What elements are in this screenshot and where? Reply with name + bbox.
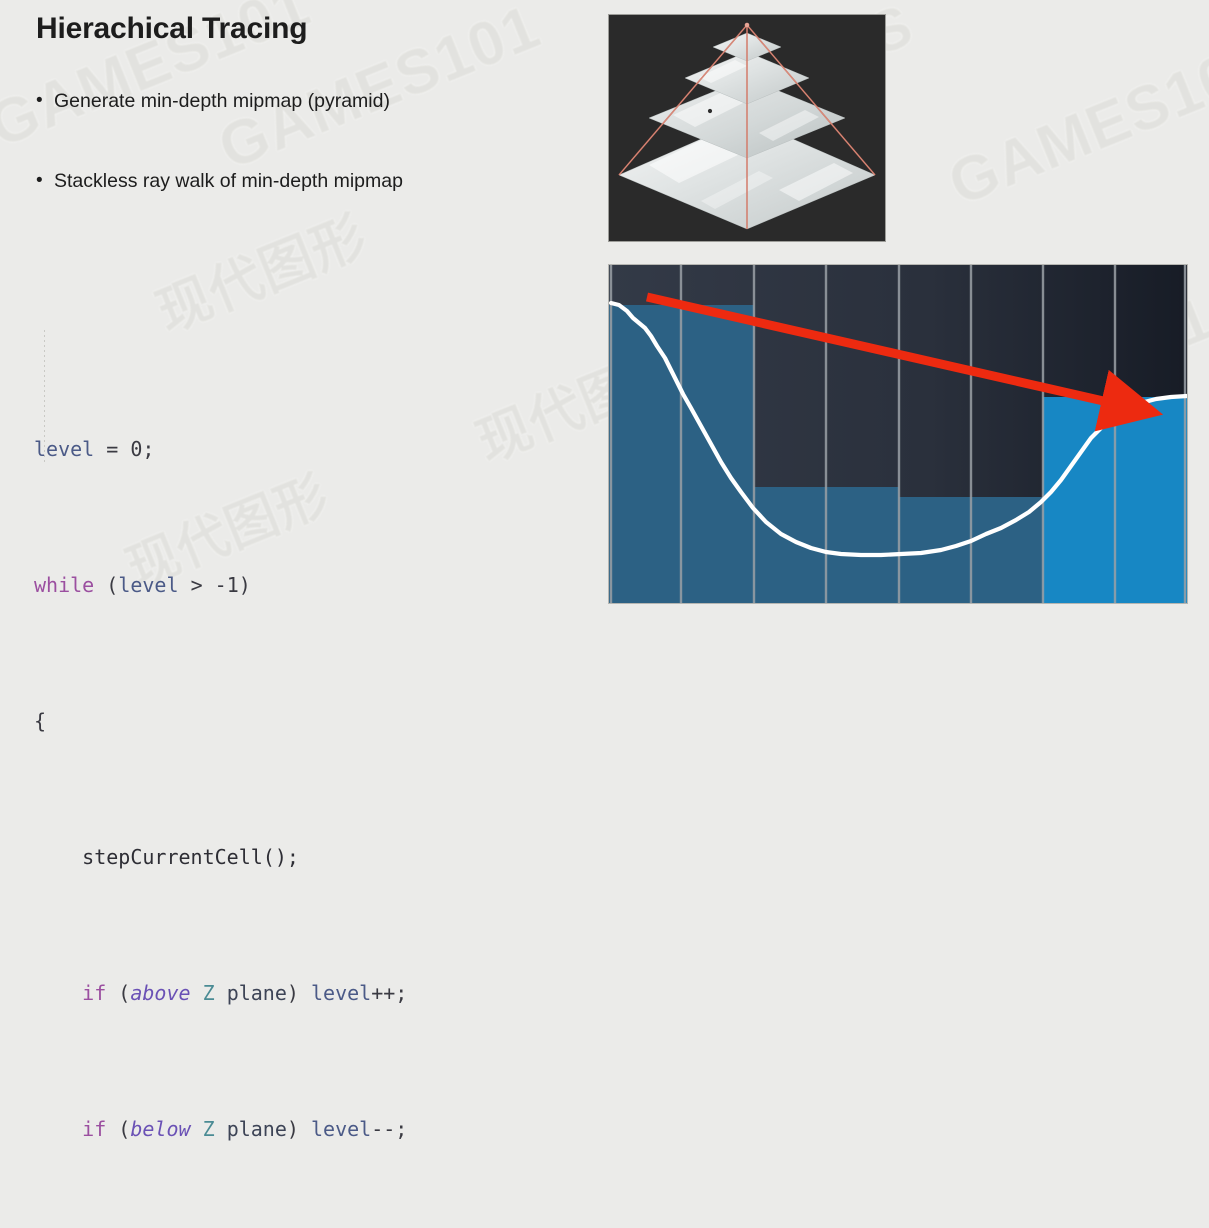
code-token-keyword-while: while — [34, 573, 94, 597]
code-token-variable: level — [34, 437, 94, 461]
code-token-variable: level — [311, 1117, 371, 1141]
code-token-paren-open: ( — [106, 1117, 130, 1141]
code-token-emphasis-above: above — [130, 981, 190, 1005]
code-token-brace-open: { — [34, 709, 46, 733]
list-item: • Generate min-depth mipmap (pyramid) — [36, 88, 576, 114]
code-token-number: -1 — [215, 573, 239, 597]
code-token-keyword-if: if — [82, 1117, 106, 1141]
bullet-text: Generate min-depth mipmap (pyramid) — [54, 88, 390, 114]
ray-walk-figure — [608, 264, 1188, 604]
code-block: level = 0; while (level > -1) { stepCurr… — [34, 296, 407, 1228]
code-token-paren-open: ( — [106, 981, 130, 1005]
code-token-paren-close: ) — [287, 981, 311, 1005]
code-line-6: if (below Z plane) level--; — [34, 1112, 407, 1146]
code-token-variable: level — [118, 573, 178, 597]
code-token-emphasis-below: below — [130, 1117, 190, 1141]
code-line-4: stepCurrentCell(); — [34, 840, 407, 874]
code-line-1: level = 0; — [34, 432, 407, 466]
code-token-paren-close: ) — [287, 1117, 311, 1141]
code-token-operator: > — [179, 573, 215, 597]
code-token-decrement: --; — [371, 1117, 407, 1141]
mipmap-pyramid-figure — [608, 14, 886, 242]
bullet-marker-icon: • — [36, 168, 54, 194]
code-line-3: { — [34, 704, 407, 738]
code-token-plane: plane — [227, 1117, 287, 1141]
bullet-text: Stackless ray walk of min-depth mipmap — [54, 168, 403, 194]
code-token-type-z: Z — [191, 1117, 227, 1141]
page-title: Hierachical Tracing — [36, 12, 307, 46]
code-token-paren-close: ) — [239, 573, 251, 597]
code-token-variable: level — [311, 981, 371, 1005]
code-token-operator: = — [94, 437, 130, 461]
pyramid-svg — [609, 15, 885, 241]
code-token-semicolon: ; — [142, 437, 154, 461]
code-token-paren-open: ( — [94, 573, 118, 597]
pyramid-apex-marker — [745, 23, 750, 28]
code-token-increment: ++; — [371, 981, 407, 1005]
list-item: • Stackless ray walk of min-depth mipmap — [36, 168, 576, 194]
code-token-keyword-if: if — [82, 981, 106, 1005]
raywalk-svg — [609, 265, 1187, 603]
code-line-2: while (level > -1) — [34, 568, 407, 602]
code-token-type-z: Z — [191, 981, 227, 1005]
code-token-plane: plane — [227, 981, 287, 1005]
bullet-marker-icon: • — [36, 88, 54, 114]
code-token-number: 0 — [130, 437, 142, 461]
slide-root: Hierachical Tracing • Generate min-depth… — [0, 0, 1209, 614]
code-token-function-call: stepCurrentCell(); — [82, 845, 299, 869]
code-line-5: if (above Z plane) level++; — [34, 976, 407, 1010]
bullet-list: • Generate min-depth mipmap (pyramid) • … — [36, 88, 576, 248]
